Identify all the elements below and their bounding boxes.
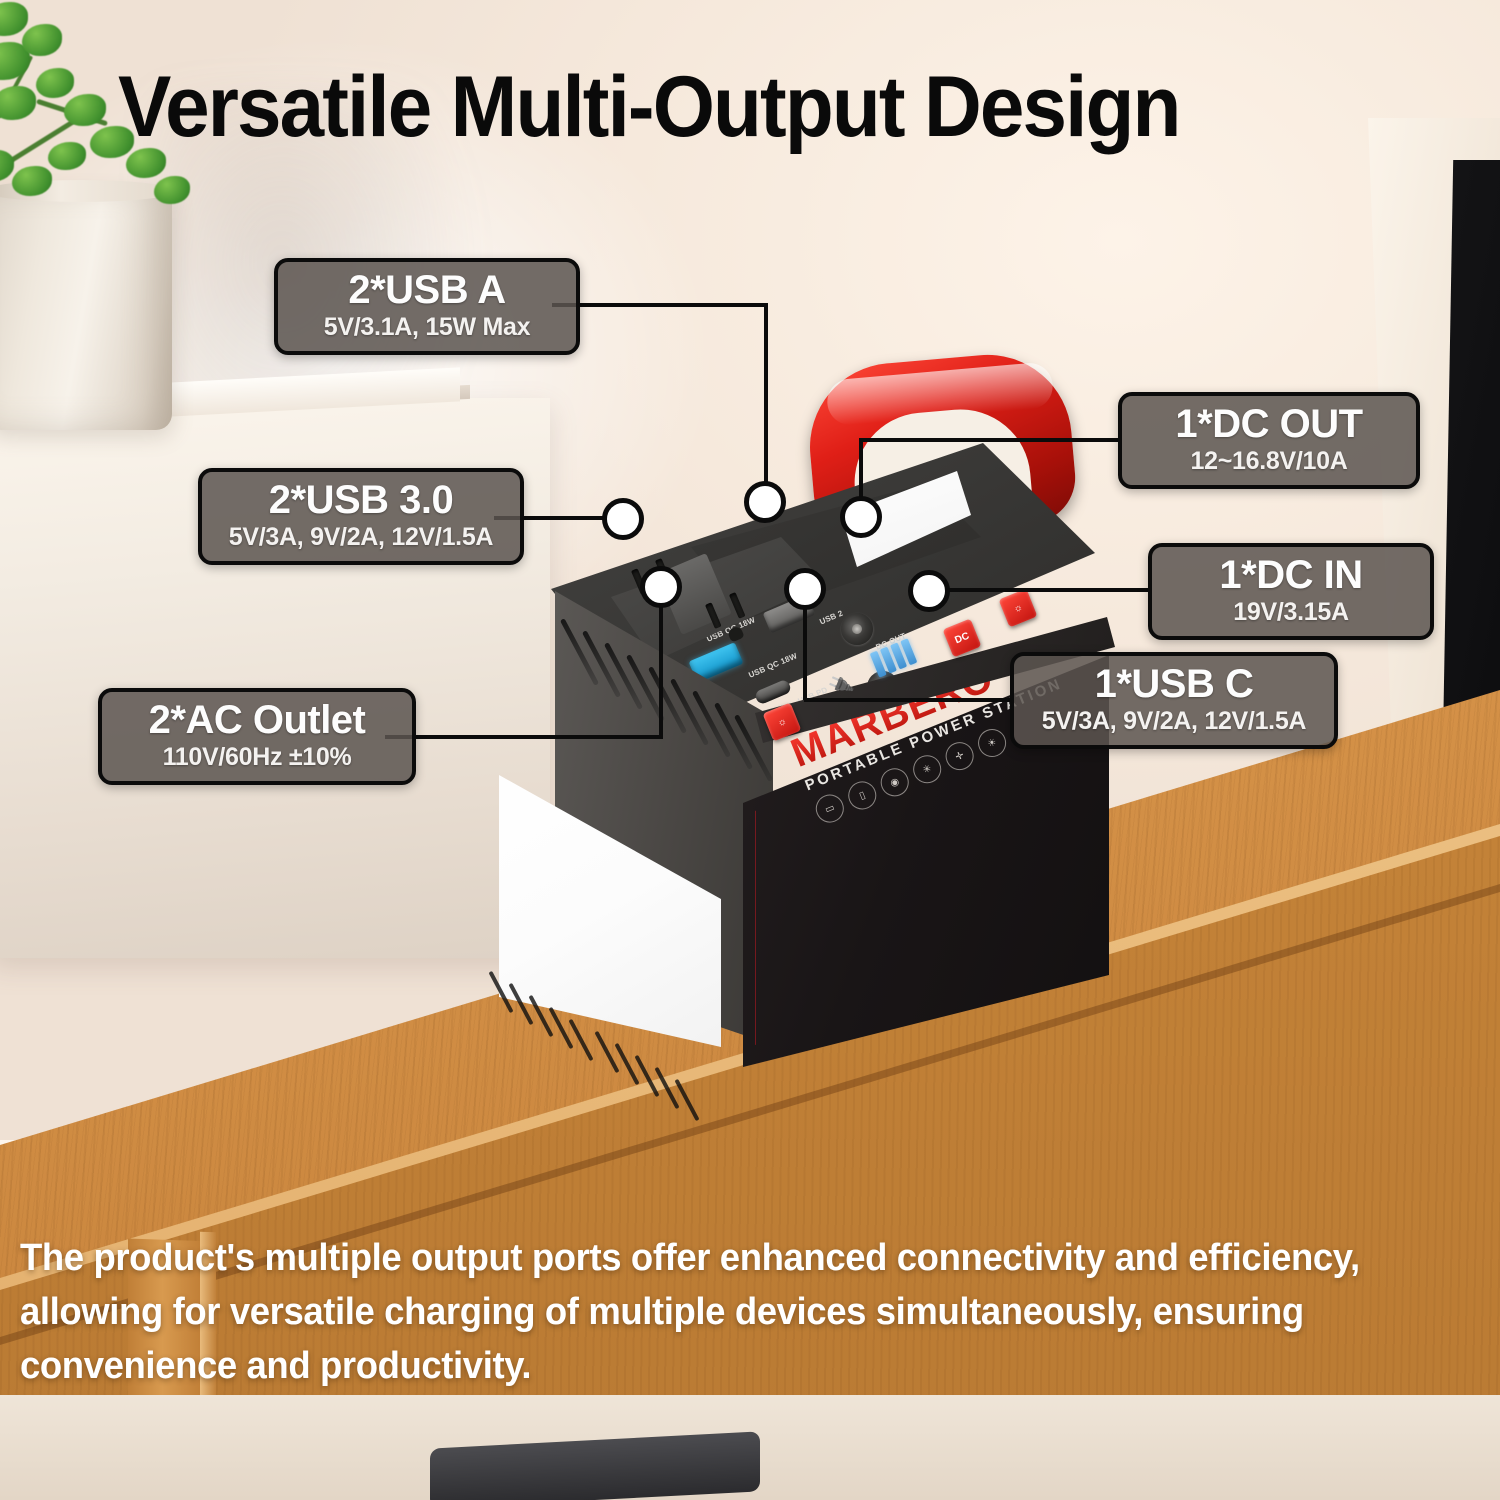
bottom-vent-ribs — [485, 955, 785, 1125]
callout-title-usb-c: 1*USB C — [1032, 664, 1316, 705]
callout-title-ac-outlet: 2*AC Outlet — [120, 700, 394, 741]
callout-spec-usb-a: 5V/3.1A, 15W Max — [296, 314, 558, 340]
callout-label-usb-a: 2*USB A 5V/3.1A, 15W Max — [274, 258, 580, 355]
callout-title-dc-out: 1*DC OUT — [1140, 404, 1398, 445]
ac-power-button[interactable]: ☼ — [998, 588, 1037, 627]
callout-spec-usb-c: 5V/3A, 9V/2A, 12V/1.5A — [1032, 708, 1316, 734]
callout-label-dc-out: 1*DC OUT 12~16.8V/10A — [1118, 392, 1420, 489]
callout-spec-ac-outlet: 110V/60Hz ±10% — [120, 744, 394, 770]
infographic-canvas: USB 1 USB 2 USB QC 18W USB QC 18W USB PD… — [0, 0, 1500, 1500]
callout-line-usb-a-h — [552, 303, 768, 307]
callout-spec-dc-in: 19V/3.15A — [1170, 599, 1412, 625]
callout-line-usb-a-v — [764, 303, 768, 501]
portable-power-station: USB 1 USB 2 USB QC 18W USB QC 18W USB PD… — [455, 355, 1095, 1085]
callout-dot-dc-out — [840, 496, 882, 538]
callout-title-dc-in: 1*DC IN — [1170, 555, 1412, 596]
callout-label-usb-30: 2*USB 3.0 5V/3A, 9V/2A, 12V/1.5A — [198, 468, 524, 565]
callout-spec-dc-out: 12~16.8V/10A — [1140, 448, 1398, 474]
callout-line-ac-outlet-v — [659, 588, 663, 737]
callout-dot-usb-30 — [602, 498, 644, 540]
callout-line-dc-out-h — [860, 438, 1122, 442]
callout-label-usb-c: 1*USB C 5V/3A, 9V/2A, 12V/1.5A — [1010, 652, 1338, 749]
callout-label-ac-outlet: 2*AC Outlet 110V/60Hz ±10% — [98, 688, 416, 785]
callout-line-dc-in-h — [930, 588, 1150, 592]
callout-label-dc-in: 1*DC IN 19V/3.15A — [1148, 543, 1434, 640]
callout-title-usb-a: 2*USB A — [296, 270, 558, 311]
callout-title-usb-30: 2*USB 3.0 — [220, 480, 502, 521]
callout-line-ac-outlet-h — [385, 735, 663, 739]
callout-dot-dc-in — [908, 570, 950, 612]
page-title: Versatile Multi-Output Design — [118, 58, 1179, 157]
callout-dot-usb-a — [744, 481, 786, 523]
dc-button[interactable]: DC — [942, 618, 981, 657]
callout-dot-ac-outlet — [640, 566, 682, 608]
callout-spec-usb-30: 5V/3A, 9V/2A, 12V/1.5A — [220, 524, 502, 550]
description-paragraph: The product's multiple output ports offe… — [20, 1232, 1426, 1394]
callout-dot-usb-c — [784, 568, 826, 610]
callout-line-usb-c-h — [804, 698, 1016, 702]
